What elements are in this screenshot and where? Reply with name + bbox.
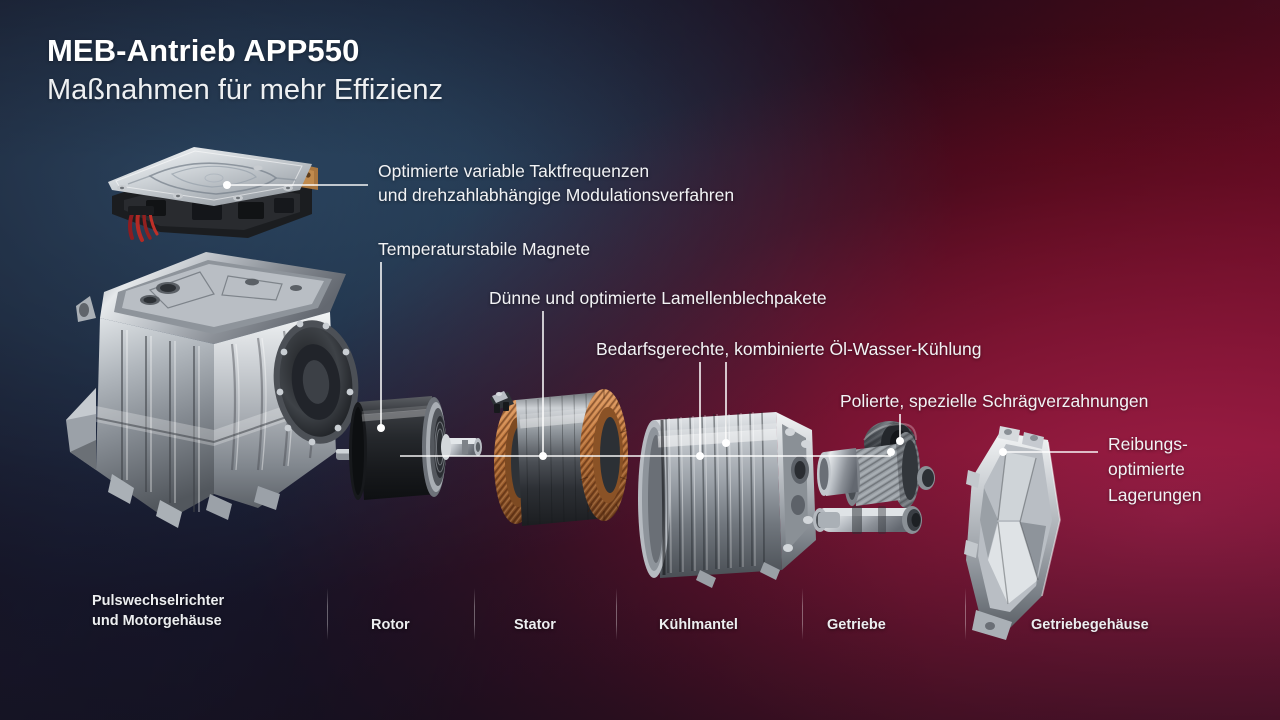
part-label-getriebe: Getriebe (827, 616, 886, 636)
leader-dots (223, 181, 1007, 460)
part-label-getriebegehaeuse: Getriebegehäuse (1031, 616, 1149, 636)
divider-2 (474, 588, 475, 640)
callout-lamellenblechpakete: Dünne und optimierte Lamellenblechpakete (489, 287, 827, 311)
callout-taktfrequenzen: Optimierte variable Taktfrequenzen und d… (378, 160, 734, 207)
part-label-pulswechselrichter: Pulswechselrichter und Motorgehäuse (92, 592, 224, 631)
divider-3 (616, 588, 617, 640)
callout-magnete: Temperaturstabile Magnete (378, 238, 590, 262)
divider-4 (802, 588, 803, 640)
divider-1 (327, 588, 328, 640)
infographic-canvas: MEB-Antrieb APP550 Maßnahmen für mehr Ef… (0, 0, 1280, 720)
divider-5 (965, 588, 966, 640)
part-label-rotor: Rotor (371, 616, 410, 636)
page-title: MEB-Antrieb APP550 (47, 35, 443, 68)
page-subtitle: Maßnahmen für mehr Effizienz (47, 72, 443, 108)
part-label-stator: Stator (514, 616, 556, 636)
callout-schraegverzahnungen: Polierte, spezielle Schrägverzahnungen (840, 390, 1148, 414)
part-label-kuehlmantel: Kühlmantel (659, 616, 738, 636)
callout-kuehlung: Bedarfsgerechte, kombinierte Öl-Wasser-K… (596, 338, 982, 362)
callout-lagerungen: Reibungs- optimierte Lagerungen (1108, 432, 1201, 508)
title-block: MEB-Antrieb APP550 Maßnahmen für mehr Ef… (47, 35, 443, 108)
